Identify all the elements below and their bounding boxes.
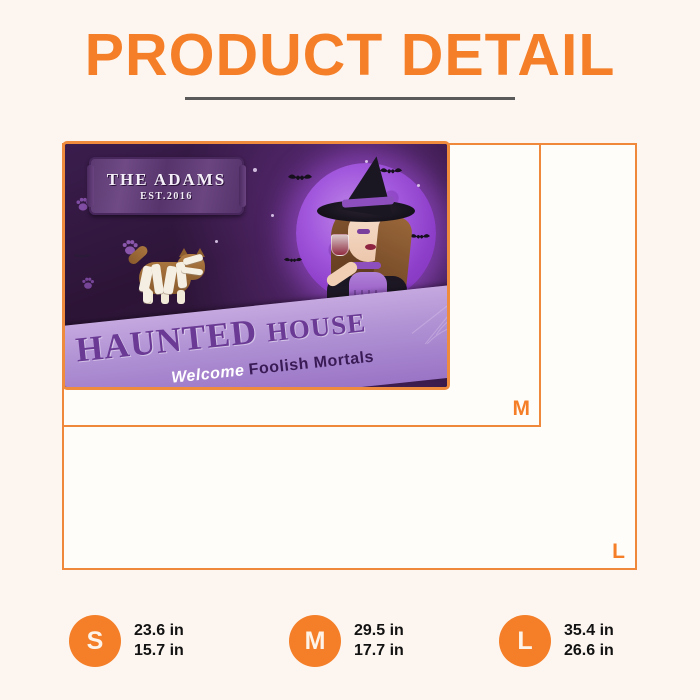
banner-welcome-text: Welcome — [170, 362, 245, 387]
established-year-text: EST.2016 — [140, 192, 193, 202]
size-width-l: 35.4 in — [564, 621, 614, 641]
size-badge-l: L — [499, 615, 551, 667]
page-title: PRODUCT DETAIL — [0, 26, 700, 85]
banner-mortals-text: Foolish Mortals — [248, 349, 375, 379]
banner-title-secondary: HOUSE — [265, 307, 367, 347]
size-height-m: 17.7 in — [354, 641, 404, 661]
size-width-s: 23.6 in — [134, 621, 184, 641]
mummy-bandage — [143, 288, 151, 303]
cat-leg — [177, 290, 185, 304]
size-badge-m: M — [289, 615, 341, 667]
star-icon — [253, 168, 257, 172]
size-dimensions-l: 35.4 in 26.6 in — [564, 621, 614, 661]
bat-icon — [73, 252, 91, 261]
legend-item-large: L 35.4 in 26.6 in — [499, 615, 614, 667]
page-header: PRODUCT DETAIL — [0, 26, 700, 100]
size-dimensions-s: 23.6 in 15.7 in — [134, 621, 184, 661]
size-box-medium-label: M — [513, 397, 531, 421]
mummy-cat — [125, 244, 209, 306]
wine-glass-icon — [331, 234, 349, 256]
cat-tail — [126, 244, 149, 266]
witch-hat-cone — [342, 152, 402, 217]
legend-item-small: S 23.6 in 15.7 in — [69, 615, 184, 667]
witch-eye — [357, 229, 370, 234]
size-height-l: 26.6 in — [564, 641, 614, 661]
family-name-plaque: THE ADAMS EST.2016 — [89, 157, 244, 215]
size-badge-s: S — [69, 615, 121, 667]
star-icon — [271, 214, 274, 217]
legend-item-medium: M 29.5 in 17.7 in — [289, 615, 404, 667]
size-width-m: 29.5 in — [354, 621, 404, 641]
paw-print-icon — [81, 276, 95, 290]
size-legend: S 23.6 in 15.7 in M 29.5 in 17.7 in L 35… — [0, 612, 700, 674]
title-underline — [185, 97, 515, 100]
bat-icon — [283, 256, 303, 265]
size-dimensions-m: 29.5 in 17.7 in — [354, 621, 404, 661]
size-height-s: 15.7 in — [134, 641, 184, 661]
size-box-large-label: L — [612, 540, 625, 564]
family-name-text: THE ADAMS — [107, 171, 227, 188]
witch-lips — [365, 244, 376, 250]
star-icon — [215, 240, 218, 243]
product-sign-image[interactable]: THE ADAMS EST.2016 — [62, 141, 450, 390]
